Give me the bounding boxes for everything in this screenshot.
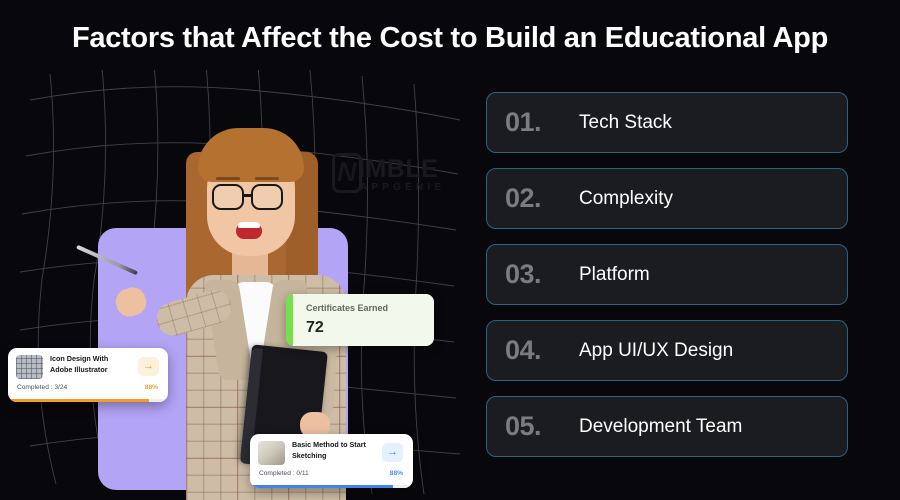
course-title: Icon Design With Adobe Illustrator <box>50 354 132 375</box>
factor-item-4[interactable]: 04. App UI/UX Design <box>486 320 848 381</box>
course-progress-fill <box>250 485 393 488</box>
factor-label: Complexity <box>579 188 673 210</box>
glasses-lens-left <box>212 184 244 210</box>
course-percent: 88% <box>145 384 158 391</box>
arrow-right-icon[interactable]: → <box>138 357 159 376</box>
page-title: Factors that Affect the Cost to Build an… <box>0 22 900 55</box>
factor-number: 01. <box>487 107 579 138</box>
sketch-photo-thumbnail-icon <box>258 441 285 465</box>
certificates-accent-bar <box>286 294 293 346</box>
factor-number: 03. <box>487 259 579 290</box>
factor-item-5[interactable]: 05. Development Team <box>486 396 848 457</box>
certificates-value: 72 <box>306 319 324 337</box>
glasses-bridge <box>244 194 251 197</box>
factor-item-2[interactable]: 02. Complexity <box>486 168 848 229</box>
factor-label: Platform <box>579 264 650 286</box>
eyebrow-left <box>216 177 240 180</box>
course-progress-fill <box>8 399 149 402</box>
factor-number: 02. <box>487 183 579 214</box>
course-completed-label: Completed : 3/24 <box>17 384 67 391</box>
course-card-icon-design[interactable]: Icon Design With Adobe Illustrator → Com… <box>8 348 168 402</box>
factor-label: Development Team <box>579 416 742 438</box>
course-title: Basic Method to Start Sketching <box>292 440 378 461</box>
infographic-canvas: Factors that Affect the Cost to Build an… <box>0 0 900 500</box>
factor-item-3[interactable]: 03. Platform <box>486 244 848 305</box>
icon-grid-thumbnail-icon <box>16 355 43 379</box>
certificates-label: Certificates Earned <box>306 303 388 313</box>
eyebrow-right <box>255 177 279 180</box>
course-percent: 88% <box>390 470 403 477</box>
factor-label: App UI/UX Design <box>579 340 733 362</box>
hair-front <box>198 128 304 182</box>
factor-label: Tech Stack <box>579 112 672 134</box>
course-progress-track <box>8 399 168 402</box>
factor-number: 05. <box>487 411 579 442</box>
glasses-lens-right <box>251 184 283 210</box>
course-progress-track <box>250 485 413 488</box>
course-completed-label: Completed : 0/11 <box>259 470 309 477</box>
factor-item-1[interactable]: 01. Tech Stack <box>486 92 848 153</box>
arrow-right-icon[interactable]: → <box>382 443 403 462</box>
certificates-earned-card: Certificates Earned 72 <box>286 294 434 346</box>
factors-list: 01. Tech Stack 02. Complexity 03. Platfo… <box>486 92 848 472</box>
factor-number: 04. <box>487 335 579 366</box>
teeth <box>238 222 260 228</box>
course-card-sketching[interactable]: Basic Method to Start Sketching → Comple… <box>250 434 413 488</box>
illustration-area: N IMBLE APPGENIE <box>0 70 470 500</box>
